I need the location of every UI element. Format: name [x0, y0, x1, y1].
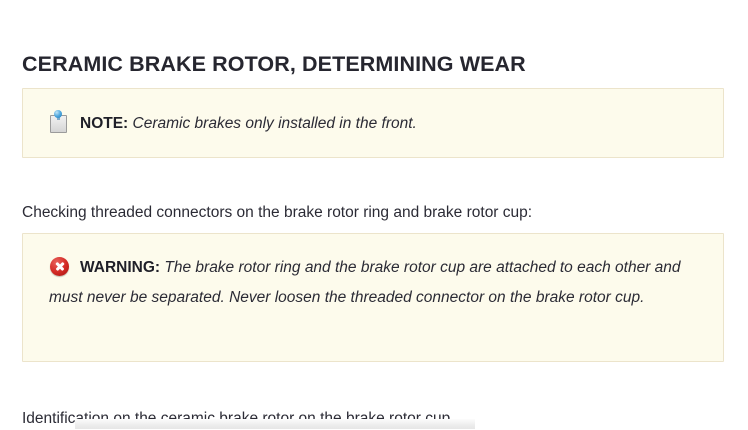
note-callout-row: NOTE: Ceramic brakes only installed in t…: [49, 109, 699, 139]
figure-image: [75, 419, 475, 429]
note-label: NOTE:: [80, 115, 128, 132]
warning-label: WARNING:: [80, 259, 160, 276]
page-title: CERAMIC BRAKE ROTOR, DETERMINING WEAR: [22, 52, 526, 77]
warning-callout-body: WARNING: The brake rotor ring and the br…: [49, 253, 699, 313]
error-circle-x-icon: [49, 255, 71, 277]
warning-callout: WARNING: The brake rotor ring and the br…: [22, 233, 724, 362]
note-text: Ceramic brakes only installed in the fro…: [133, 115, 417, 132]
note-pin-icon: [49, 111, 71, 133]
note-callout: NOTE: Ceramic brakes only installed in t…: [22, 88, 724, 158]
paragraph-checking-threaded-connectors: Checking threaded connectors on the brak…: [22, 202, 532, 224]
note-callout-body: NOTE: Ceramic brakes only installed in t…: [49, 109, 699, 139]
document-page: CERAMIC BRAKE ROTOR, DETERMINING WEAR NO…: [0, 0, 748, 429]
